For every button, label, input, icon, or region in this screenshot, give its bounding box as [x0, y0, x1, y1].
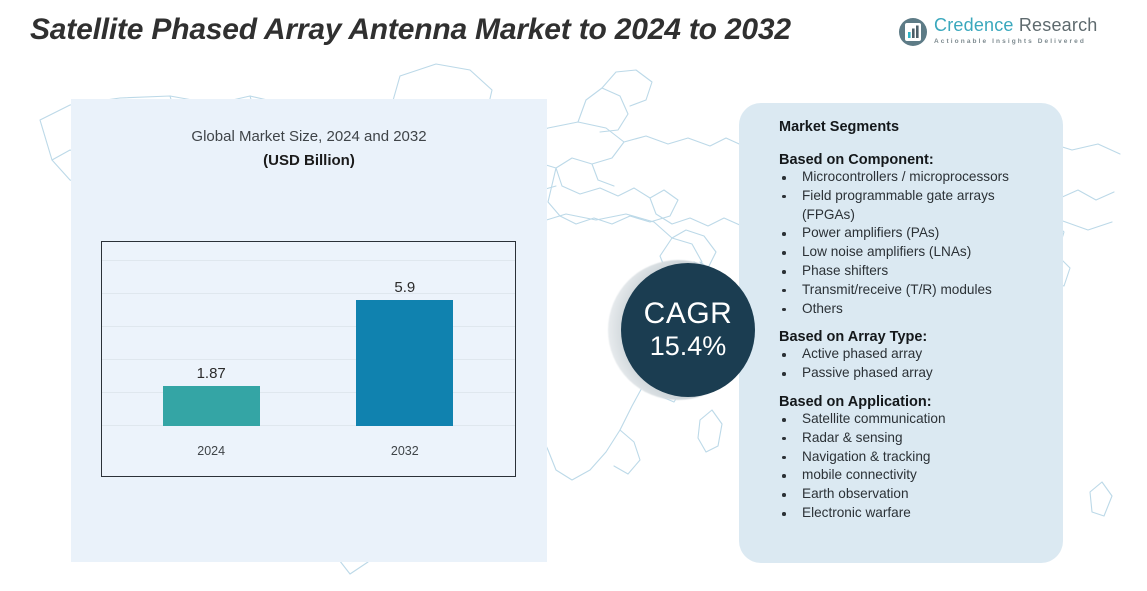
segment-group: Based on Application:Satellite communica…: [759, 394, 1045, 523]
segment-group: Based on Array Type:Active phased arrayP…: [759, 329, 1045, 383]
logo-tagline: Actionable Insights Delivered: [934, 38, 1098, 45]
header: Satellite Phased Array Antenna Market to…: [0, 0, 1147, 96]
segment-list: Microcontrollers / microprocessorsField …: [759, 168, 1045, 318]
cagr-circle: CAGR 15.4%: [621, 263, 755, 397]
cagr-badge: CAGR 15.4%: [600, 254, 790, 409]
segment-list-item[interactable]: Passive phased array: [759, 364, 1045, 383]
segment-list-item[interactable]: Phase shifters: [759, 262, 1045, 281]
segment-list: Satellite communicationRadar & sensingNa…: [759, 410, 1045, 523]
chart-category-label: 2024: [151, 444, 271, 458]
segment-group-heading: Based on Application:: [779, 394, 1045, 410]
segment-list-item[interactable]: Radar & sensing: [759, 429, 1045, 448]
credence-research-logo[interactable]: Credence Research Actionable Insights De…: [898, 15, 1080, 51]
chart-gridline: [102, 260, 515, 261]
chart-subtitle: (USD Billion): [71, 152, 547, 169]
logo-name-credence: Credence: [934, 15, 1014, 35]
segment-list-item[interactable]: Navigation & tracking: [759, 448, 1045, 467]
segment-list-item[interactable]: Field programmable gate arrays (FPGAs): [759, 187, 1045, 225]
segment-list-item[interactable]: Low noise amplifiers (LNAs): [759, 243, 1045, 262]
segment-list-item[interactable]: Microcontrollers / microprocessors: [759, 168, 1045, 187]
segment-list-item[interactable]: Power amplifiers (PAs): [759, 224, 1045, 243]
segment-list-item[interactable]: Transmit/receive (T/R) modules: [759, 281, 1045, 300]
logo-name: Credence Research: [934, 15, 1098, 36]
infographic-canvas: Satellite Phased Array Antenna Market to…: [0, 0, 1147, 591]
segment-list-item[interactable]: Active phased array: [759, 345, 1045, 364]
chart-value-label: 5.9: [345, 279, 465, 296]
segment-list-item[interactable]: Electronic warfare: [759, 504, 1045, 523]
segment-group-heading: Based on Array Type:: [779, 329, 1045, 345]
chart-category-label: 2032: [345, 444, 465, 458]
chart-plot-area: 1.8720245.92032: [102, 242, 515, 476]
segment-list-item[interactable]: Others: [759, 300, 1045, 319]
page-title: Satellite Phased Array Antenna Market to…: [30, 10, 910, 49]
cagr-value: 15.4%: [650, 331, 727, 362]
segment-list: Active phased arrayPassive phased array: [759, 345, 1045, 383]
segment-group-heading: Based on Component:: [779, 152, 1045, 168]
cagr-label: CAGR: [644, 298, 733, 330]
logo-text-block: Credence Research Actionable Insights De…: [934, 15, 1098, 45]
segment-list-item[interactable]: mobile connectivity: [759, 466, 1045, 485]
logo-name-research: Research: [1019, 15, 1098, 35]
credence-logo-icon: [898, 17, 928, 47]
chart-value-label: 1.87: [151, 365, 271, 382]
chart-bar: [356, 300, 453, 426]
chart-bar: [163, 386, 260, 426]
chart-title: Global Market Size, 2024 and 2032: [71, 128, 547, 145]
segment-group: Based on Component:Microcontrollers / mi…: [759, 152, 1045, 318]
segment-list-item[interactable]: Earth observation: [759, 485, 1045, 504]
segments-heading: Market Segments: [779, 119, 1045, 135]
segments-groups: Based on Component:Microcontrollers / mi…: [759, 152, 1045, 523]
segment-list-item[interactable]: Satellite communication: [759, 410, 1045, 429]
bar-chart: 1.8720245.92032: [101, 241, 516, 477]
